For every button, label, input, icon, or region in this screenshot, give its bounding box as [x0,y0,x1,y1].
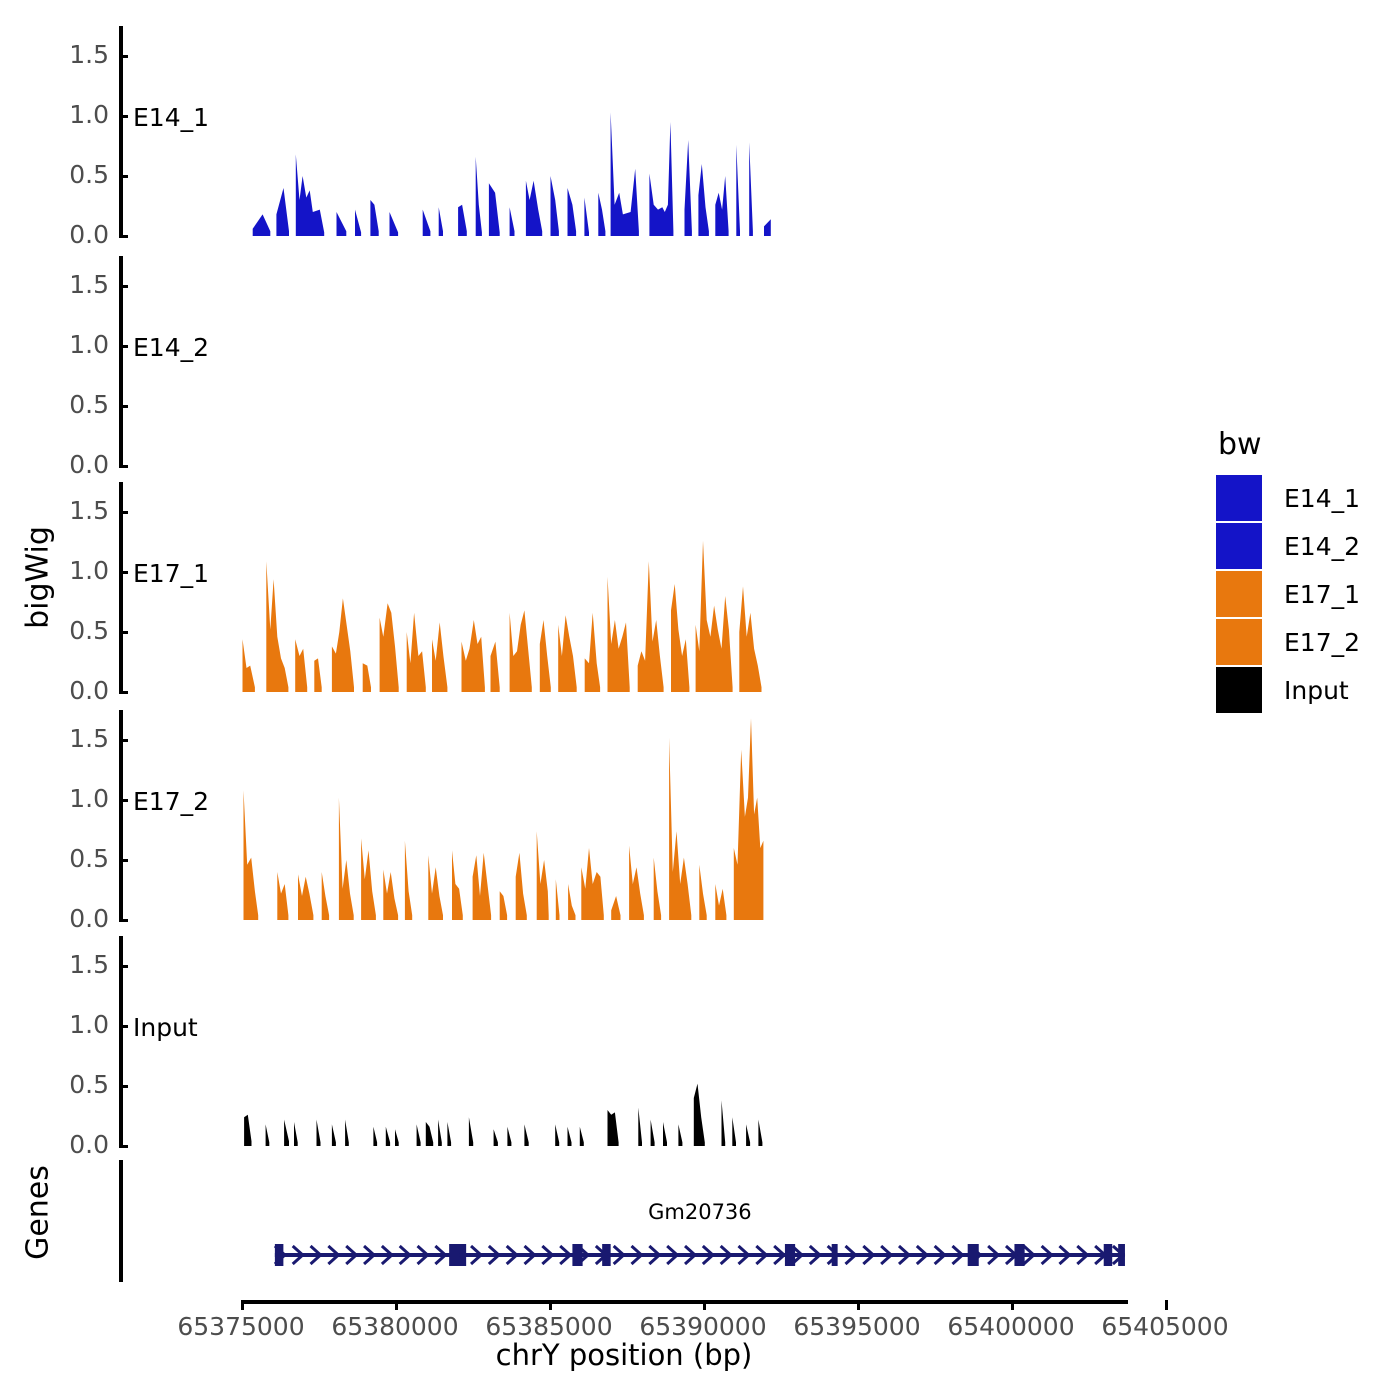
coverage-area [0,710,1400,920]
x-axis-title: chrY position (bp) [119,1338,1129,1372]
track-e14_1: 0.00.51.01.5E14_1 [0,26,1400,236]
legend-item-e14_1[interactable]: E14_1 [1216,474,1396,522]
legend-swatch [1216,667,1262,713]
legend-swatch [1216,619,1262,665]
gene-axis-line [119,1160,123,1282]
coverage-area [0,26,1400,236]
x-tick-label: 65405000 [1065,1312,1265,1341]
track-e17_1: 0.00.51.01.5E17_1 [0,482,1400,692]
legend-items: E14_1E14_2E17_1E17_2Input [1216,474,1396,714]
x-tick-mark [549,1300,552,1310]
track-input: 0.00.51.01.5Input [0,936,1400,1146]
legend-swatch [1216,571,1262,617]
x-axis-line [241,1300,1128,1304]
x-tick-mark [395,1300,398,1310]
coverage-area [0,256,1400,466]
legend: bw E14_1E14_2E17_1E17_2Input [1216,430,1396,714]
legend-item-e17_1[interactable]: E17_1 [1216,570,1396,618]
x-tick-mark [703,1300,706,1310]
x-tick-mark [857,1300,860,1310]
gene-label: Gm20736 [550,1200,850,1224]
track-e14_2: 0.00.51.01.5E14_2 [0,256,1400,466]
x-tick-mark [241,1300,244,1310]
legend-item-e14_2[interactable]: E14_2 [1216,522,1396,570]
coverage-area [0,936,1400,1146]
legend-label: Input [1284,676,1349,705]
legend-item-e17_2[interactable]: E17_2 [1216,618,1396,666]
legend-swatch [1216,523,1262,569]
gene-track-panel: Gm20736 [0,1160,1400,1300]
legend-label: E17_2 [1284,628,1360,657]
genome-browser-figure: bigWig Genes chrY position (bp) 0.00.51.… [0,0,1400,1400]
gene-model[interactable] [0,1160,1400,1300]
x-tick-mark [1165,1300,1168,1310]
legend-label: E14_1 [1284,484,1360,513]
legend-swatch [1216,475,1262,521]
coverage-area [0,482,1400,692]
track-e17_2: 0.00.51.01.5E17_2 [0,710,1400,920]
x-tick-mark [1011,1300,1014,1310]
legend-label: E14_2 [1284,532,1360,561]
legend-item-input[interactable]: Input [1216,666,1396,714]
legend-title: bw [1218,430,1396,460]
legend-label: E17_1 [1284,580,1360,609]
